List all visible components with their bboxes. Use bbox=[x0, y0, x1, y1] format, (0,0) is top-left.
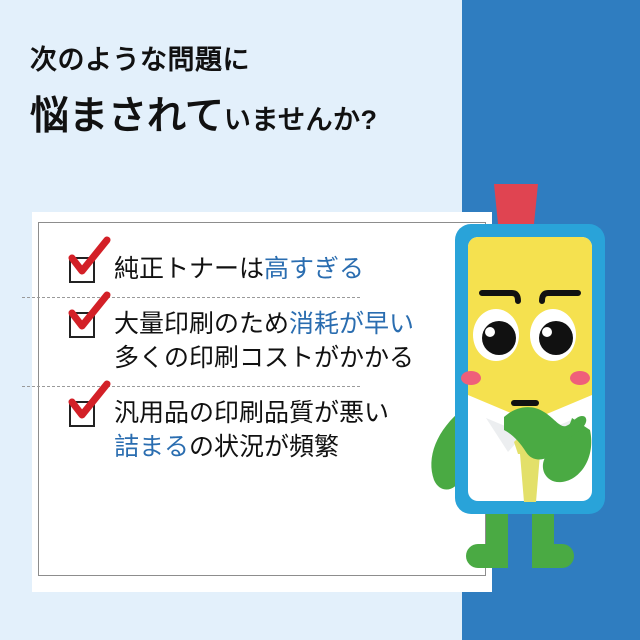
list-item-text-highlight: 高すぎる bbox=[264, 255, 364, 283]
list-item[interactable]: 汎用品の印刷品質が悪い 詰まるの状況が頻繁 bbox=[68, 396, 408, 466]
list-item-line-1: 純正トナーは高すぎる bbox=[114, 252, 408, 288]
mascot-right-pupil bbox=[539, 321, 573, 355]
list-item-text-highlight: 消耗が早い bbox=[289, 310, 414, 338]
list-item-subtext-plain: の状況が頻繁 bbox=[189, 433, 339, 461]
mascot-left-foot bbox=[466, 544, 508, 568]
list-item-text-plain: 純正トナーは bbox=[114, 255, 264, 283]
list-item-text-plain: 汎用品の印刷品質が悪い bbox=[114, 399, 389, 427]
mascot-cap bbox=[494, 184, 538, 224]
mascot-right-eye-glint bbox=[542, 327, 552, 337]
list-item[interactable]: 大量印刷のため消耗が早い 多くの印刷コストがかかる bbox=[68, 307, 408, 377]
list-item-line-1: 汎用品の印刷品質が悪い bbox=[114, 396, 408, 432]
mascot-left-pupil bbox=[482, 321, 516, 355]
list-item-text-plain: 大量印刷のため bbox=[114, 310, 289, 338]
page-title: 次のような問題に 悩まされていませんか? bbox=[30, 44, 450, 141]
list-divider bbox=[22, 386, 360, 387]
list-item[interactable]: 純正トナーは高すぎる bbox=[68, 252, 408, 288]
list-item-line-2: 多くの印刷コストがかかる bbox=[114, 341, 408, 377]
problem-checklist: 純正トナーは高すぎる 大量印刷のため消耗が早い 多くの印刷コストがかかる 汎用品… bbox=[68, 252, 408, 466]
mascot-right-foot bbox=[532, 544, 574, 568]
list-item-subtext-plain: 多くの印刷コストがかかる bbox=[114, 344, 414, 372]
mascot-left-blush bbox=[461, 371, 481, 385]
mascot-left-eye-glint bbox=[485, 327, 495, 337]
headline-emphasis: 悩まされて bbox=[30, 95, 224, 138]
checkbox-icon[interactable] bbox=[69, 312, 95, 338]
headline-question-tail: いませんか? bbox=[224, 105, 378, 135]
list-divider bbox=[22, 297, 360, 298]
list-item-subtext-highlight: 詰まる bbox=[114, 433, 189, 461]
list-item-line-2: 詰まるの状況が頻繁 bbox=[114, 430, 408, 466]
checkbox-icon[interactable] bbox=[69, 257, 95, 283]
checkbox-icon[interactable] bbox=[69, 401, 95, 427]
headline-line-2: 悩まされていませんか? bbox=[30, 85, 450, 141]
poster-root: 次のような問題に 悩まされていませんか? 純正トナーは高すぎる 大量印刷のため消… bbox=[0, 0, 640, 640]
mascot-right-blush bbox=[570, 371, 590, 385]
mascot-mouth bbox=[511, 400, 539, 406]
list-item-line-1: 大量印刷のため消耗が早い bbox=[114, 307, 408, 343]
headline-line-1: 次のような問題に bbox=[30, 44, 450, 78]
toner-cartridge-mascot bbox=[420, 180, 620, 590]
